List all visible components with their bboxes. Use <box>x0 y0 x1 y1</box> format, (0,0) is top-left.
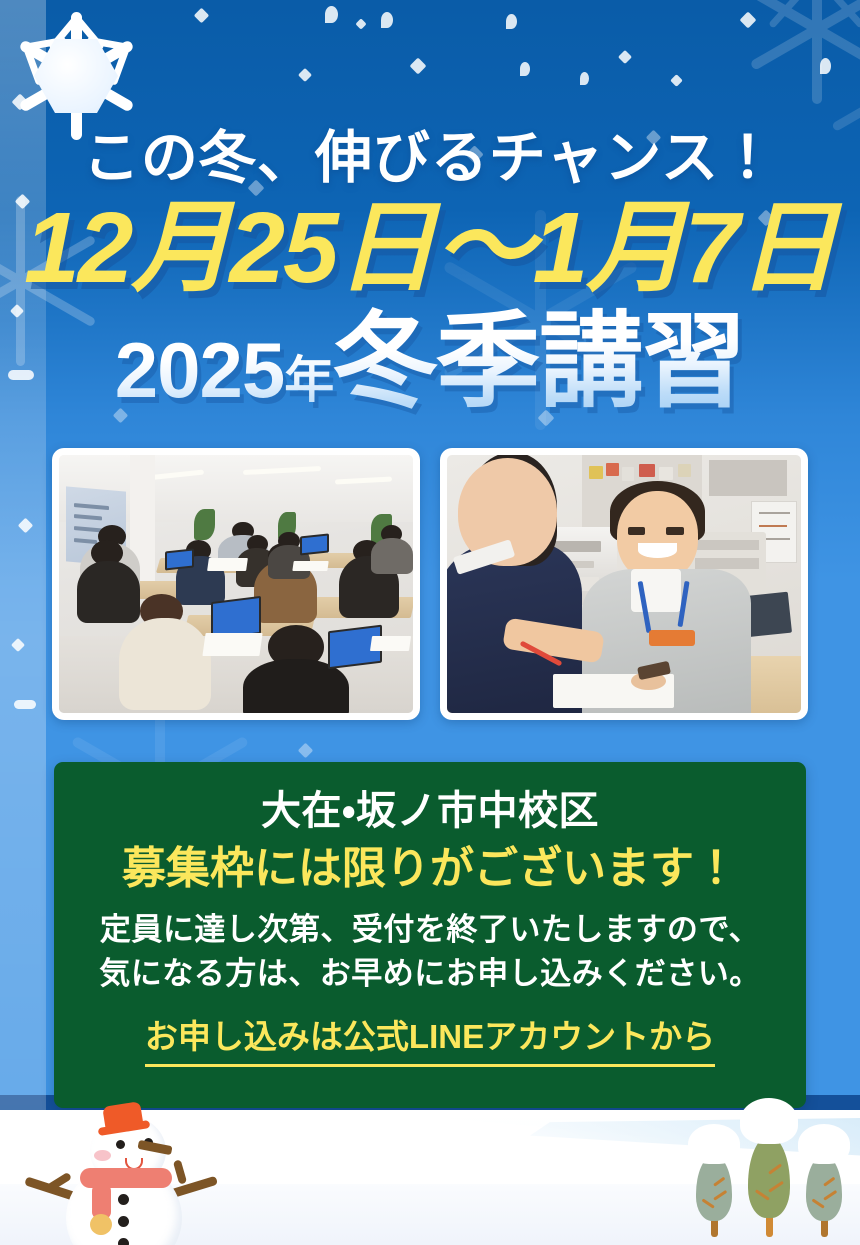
notice-panel: 大在・坂ノ市中校区 募集枠には限りがございます！ 定員に達し次第、受付を終了いた… <box>54 762 806 1108</box>
photo-card-counselling <box>440 448 808 720</box>
snow-particle <box>381 12 393 28</box>
page-headline: この冬、伸びるチャンス！ <box>0 112 860 194</box>
photo-gallery <box>52 448 808 720</box>
notice-line-2: 気になる方は、お早めにお申し込みください。 <box>78 952 782 996</box>
notice-text: 定員に達し次第、受付を終了いたしますので、 気になる方は、お早めにお申し込みくだ… <box>78 908 782 996</box>
photo-card-classroom <box>52 448 420 720</box>
classroom-photo <box>59 455 413 713</box>
school-area-label: 大在・坂ノ市中校区 <box>78 788 782 835</box>
snow-particle <box>325 6 338 23</box>
snowman-icon <box>18 1102 218 1245</box>
page-title: 2025年冬季講習 <box>0 305 860 419</box>
counselling-photo <box>447 455 801 713</box>
snow-tree-group <box>688 1098 844 1245</box>
snow-tree-icon <box>740 1098 798 1237</box>
capacity-warning: 募集枠には限りがございます！ <box>78 843 782 896</box>
snow-particle <box>520 62 530 76</box>
title-nen: 年 <box>284 352 333 408</box>
snow-particle <box>580 72 589 85</box>
snow-tree-icon <box>798 1124 850 1237</box>
title-year: 2025 <box>115 326 285 414</box>
snow-particle <box>506 14 517 29</box>
snow-tree-icon <box>688 1124 740 1237</box>
snow-particle <box>820 58 831 74</box>
snow-particle <box>14 700 36 709</box>
date-range: 12月25日〜1月7日 <box>0 196 860 301</box>
title-main: 冬季講習 <box>333 304 745 420</box>
notice-line-1: 定員に達し次第、受付を終了いたしますので、 <box>78 908 782 952</box>
winter-course-poster: この冬、伸びるチャンス！ 12月25日〜1月7日 2025年冬季講習 <box>0 0 860 1245</box>
line-cta-text[interactable]: お申し込みは公式LINEアカウントから <box>145 1010 715 1067</box>
